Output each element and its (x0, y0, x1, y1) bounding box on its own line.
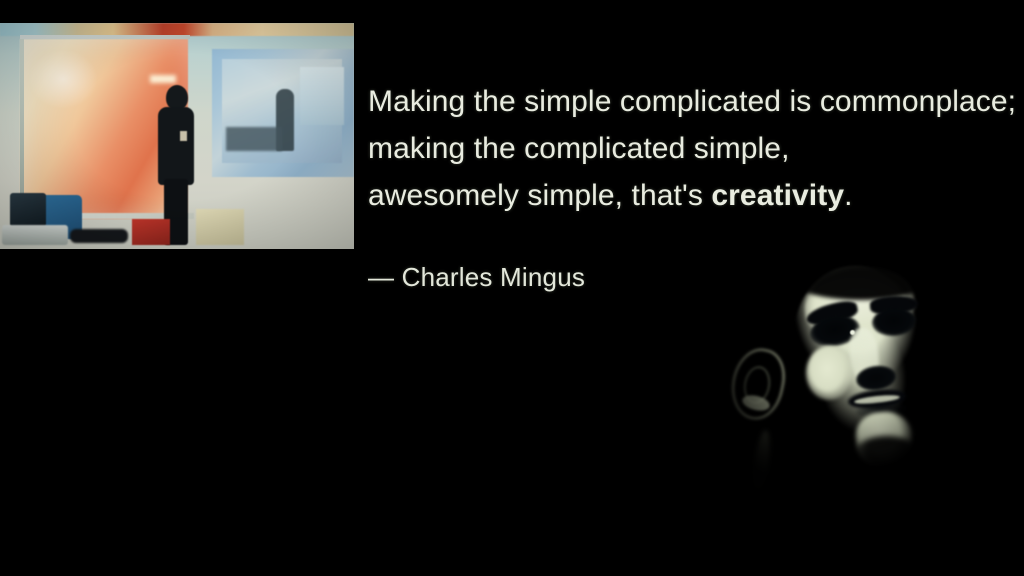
portrait-hairline-shadow (786, 252, 936, 300)
charles-mingus-portrait (700, 250, 1024, 550)
quote-emphasis-creativity: creativity (711, 179, 844, 212)
quote-line-3-text: awesomely simple, that's (368, 179, 711, 212)
video-projected-window (300, 67, 344, 125)
video-presenter-body (158, 107, 194, 185)
portrait-bottom-fade (700, 470, 1024, 550)
video-screen-hotspot (150, 75, 176, 83)
video-laptop (10, 193, 46, 227)
video-screen-glow (28, 49, 98, 109)
video-presenter-badge (180, 131, 187, 141)
video-projected-object (226, 127, 282, 151)
video-cables (70, 229, 128, 243)
presentation-slide: Making the simple complicated is commonp… (0, 0, 1024, 576)
quote-text: Making the simple complicated is commonp… (368, 78, 1024, 219)
portrait-cheek-highlight (806, 346, 852, 400)
video-red-box (132, 219, 170, 245)
video-screen-frame-top (20, 35, 190, 39)
quote-line-3: awesomely simple, that's creativity. (368, 172, 1024, 219)
video-tan-box (196, 209, 244, 245)
video-desk-surface (2, 225, 68, 245)
quote-line-2: making the complicated simple, (368, 125, 1024, 172)
quote-line-3-period: . (844, 179, 852, 212)
presentation-video-thumbnail[interactable] (0, 23, 354, 249)
quote-line-1: Making the simple complicated is commonp… (368, 78, 1024, 125)
portrait-beard-shadow (850, 436, 924, 482)
quote-attribution: — Charles Mingus (368, 262, 585, 293)
portrait-neck-edge (749, 429, 773, 500)
